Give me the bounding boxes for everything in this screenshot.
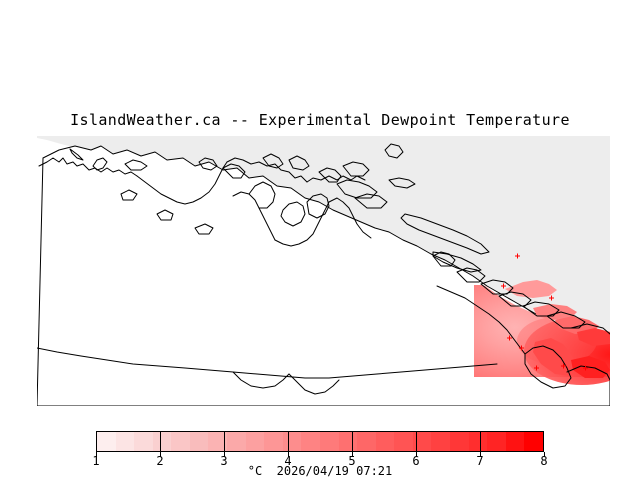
colorbar-divider xyxy=(288,431,289,452)
colorbar-band xyxy=(357,432,376,451)
colorbar-band xyxy=(301,432,320,451)
colorbar-band xyxy=(450,432,469,451)
colorbar-band xyxy=(524,432,543,451)
colorbar-divider xyxy=(480,431,481,452)
colorbar-divider xyxy=(352,431,353,452)
colorbar-divider xyxy=(224,431,225,452)
colorbar-band xyxy=(283,432,302,451)
colorbar-band xyxy=(487,432,506,451)
colorbar-band xyxy=(134,432,153,451)
colorbar-band xyxy=(506,432,525,451)
colorbar-band xyxy=(431,432,450,451)
colorbar-band xyxy=(116,432,135,451)
colorbar-band xyxy=(227,432,246,451)
colorbar[interactable] xyxy=(96,431,544,452)
colorbar-band xyxy=(339,432,358,451)
colorbar-band xyxy=(376,432,395,451)
map-panel[interactable] xyxy=(37,136,610,406)
colorbar-divider xyxy=(160,431,161,452)
colorbar-divider xyxy=(416,431,417,452)
colorbar-band xyxy=(190,432,209,451)
colorbar-band xyxy=(153,432,172,451)
colorbar-gradient xyxy=(96,431,544,452)
colorbar-band xyxy=(394,432,413,451)
colorbar-band xyxy=(320,432,339,451)
page-title: IslandWeather.ca -- Experimental Dewpoin… xyxy=(0,111,640,129)
colorbar-band xyxy=(171,432,190,451)
colorbar-band xyxy=(469,432,488,451)
map-viewer: IslandWeather.ca -- Experimental Dewpoin… xyxy=(0,0,640,480)
colorbar-band xyxy=(246,432,265,451)
map-canvas[interactable] xyxy=(37,136,610,406)
colorbar-caption: °C 2026/04/19 07:21 xyxy=(0,464,640,478)
colorbar-band xyxy=(264,432,283,451)
colorbar-band xyxy=(97,432,116,451)
